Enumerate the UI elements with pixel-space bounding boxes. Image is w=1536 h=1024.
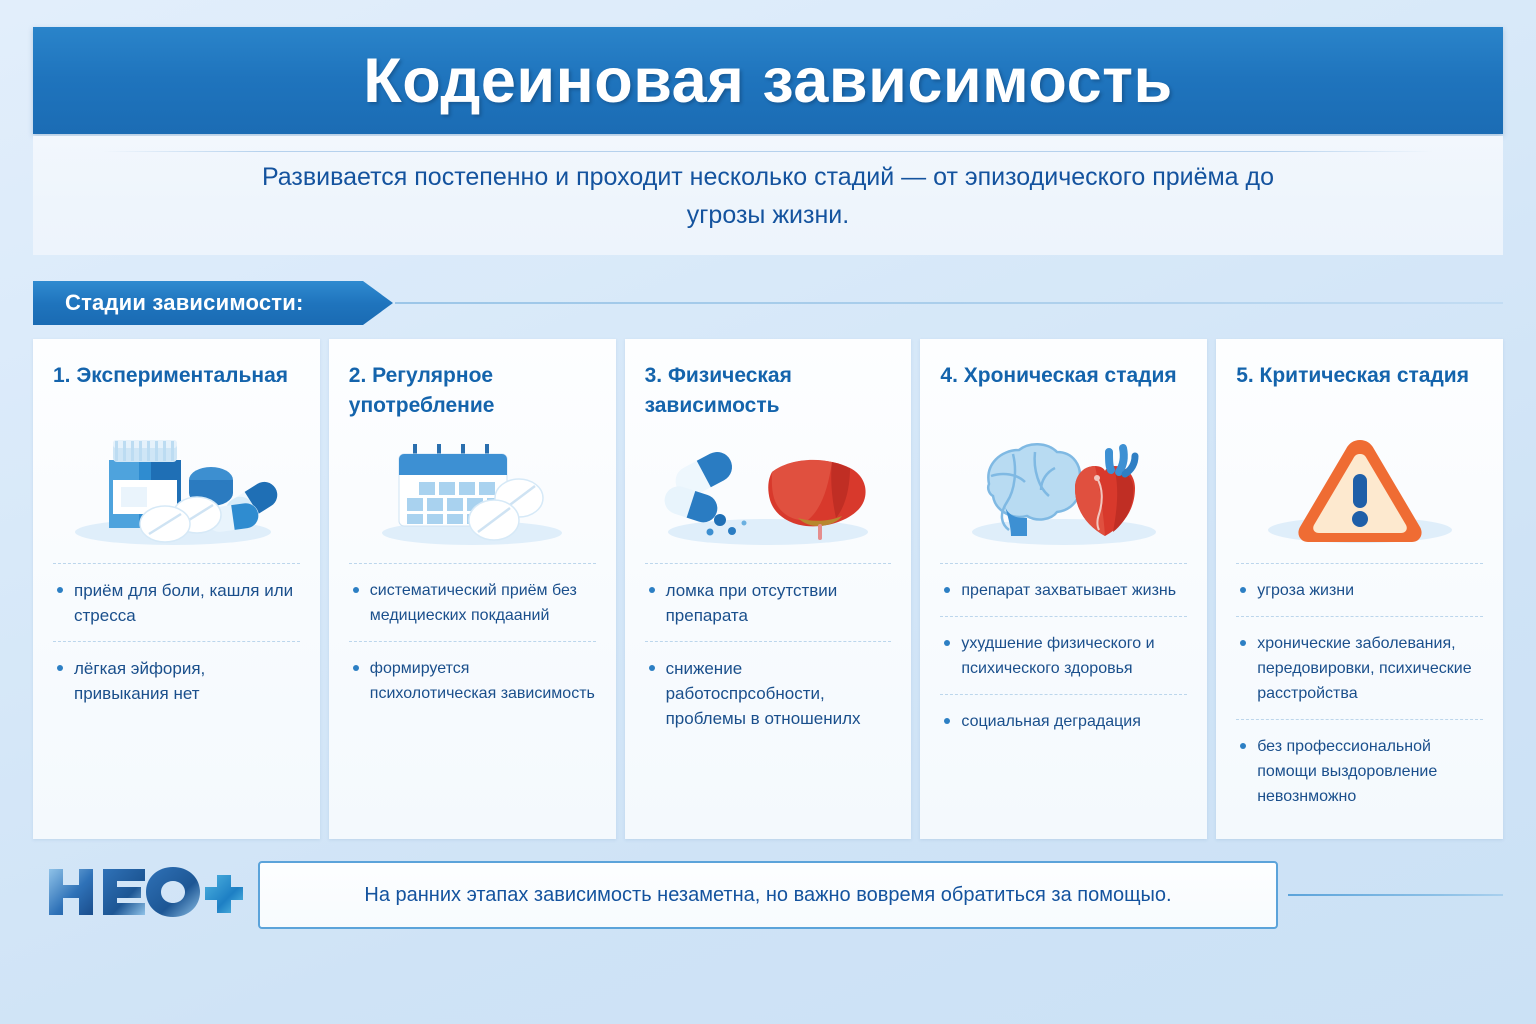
subtitle-divider xyxy=(103,151,1433,152)
bullet-text: приём для боли, кашля или стресса xyxy=(74,578,300,628)
neo-plus-logo xyxy=(43,863,243,921)
bullet-dot-icon xyxy=(649,665,655,671)
bullet-dot-icon xyxy=(1240,640,1246,646)
list-item: систематический приём без медициеских по… xyxy=(349,563,596,641)
bullet-dot-icon xyxy=(353,587,359,593)
bullet-dot-icon xyxy=(944,640,950,646)
list-item: снижение работоспрсобности, проблемы в о… xyxy=(645,641,892,744)
calendar-pills-icon xyxy=(349,429,596,547)
stage-card-1[interactable]: 1. Экспериментальная xyxy=(33,339,320,839)
bullet-text: ломка при отсутствии препарата xyxy=(666,578,892,628)
stage-bullet-list: систематический приём без медициеских по… xyxy=(349,563,596,719)
footer-note-text: На ранних этапах зависимость незаметна, … xyxy=(344,884,1191,907)
stage-card-title: 2. Регулярное употребление xyxy=(349,361,596,423)
bullet-text: систематический приём без медициеских по… xyxy=(370,578,596,628)
bullet-text: угроза жизни xyxy=(1257,578,1354,603)
bullet-text: лёгкая эйфория, привыкания нет xyxy=(74,656,300,706)
list-item: формируется психолотическая зависимость xyxy=(349,641,596,719)
stage-bullet-list: ломка при отсутствии препарата снижение … xyxy=(645,563,892,744)
list-item: препарат захватывает жизнь xyxy=(940,563,1187,616)
stage-card-3[interactable]: 3. Физическая зависимость xyxy=(625,339,912,839)
bullet-text: без профессиональной помощи выздоровлени… xyxy=(1257,734,1483,809)
warning-triangle-icon xyxy=(1236,429,1483,547)
brain-heart-icon xyxy=(940,429,1187,547)
stage-bullet-list: угроза жизни хронические заболевания, пе… xyxy=(1236,563,1483,822)
bullet-dot-icon xyxy=(353,665,359,671)
footer: На ранних этапах зависимость незаметна, … xyxy=(33,855,1503,950)
stage-card-title: 4. Хроническая стадия xyxy=(940,361,1187,423)
bullet-text: препарат захватывает жизнь xyxy=(961,578,1176,603)
footer-rule xyxy=(1288,894,1503,896)
stage-card-4[interactable]: 4. Хроническая стадия xyxy=(920,339,1207,839)
page-subtitle: Развивается постепенно и проходит нескол… xyxy=(253,158,1283,234)
bullet-text: ухудшение физического и психического здо… xyxy=(961,631,1187,681)
list-item: лёгкая эйфория, привыкания нет xyxy=(53,641,300,719)
footer-note-box: На ранних этапах зависимость незаметна, … xyxy=(258,861,1278,929)
list-item: ломка при отсутствии препарата xyxy=(645,563,892,641)
list-item: хронические заболевания, передовировки, … xyxy=(1236,616,1483,719)
capsule-liver-icon xyxy=(645,429,892,547)
list-item: без профессиональной помощи выздоровлени… xyxy=(1236,719,1483,822)
stage-card-5[interactable]: 5. Критическая стадия угроза жизни хр xyxy=(1216,339,1503,839)
bullet-text: хронические заболевания, передовировки, … xyxy=(1257,631,1483,706)
bullet-dot-icon xyxy=(1240,587,1246,593)
page-title: Кодеиновая зависимость xyxy=(363,45,1172,117)
bullet-dot-icon xyxy=(57,587,63,593)
stage-card-title: 5. Критическая стадия xyxy=(1236,361,1483,423)
stages-banner-row: Стадии зависимости: xyxy=(33,281,1503,325)
stage-bullet-list: препарат захватывает жизнь ухудшение физ… xyxy=(940,563,1187,747)
bullet-dot-icon xyxy=(944,587,950,593)
pill-bottle-icon xyxy=(53,429,300,547)
list-item: приём для боли, кашля или стресса xyxy=(53,563,300,641)
stages-banner-rule xyxy=(395,302,1503,304)
infographic-poster: Кодеиновая зависимость Развивается посте… xyxy=(0,0,1536,1024)
bullet-dot-icon xyxy=(1240,743,1246,749)
bullet-dot-icon xyxy=(944,718,950,724)
stage-card-2[interactable]: 2. Регулярное употребление xyxy=(329,339,616,839)
bullet-text: социальная деградация xyxy=(961,709,1140,734)
stage-card-title: 1. Экспериментальная xyxy=(53,361,300,423)
bullet-dot-icon xyxy=(57,665,63,671)
list-item: угроза жизни xyxy=(1236,563,1483,616)
stages-banner: Стадии зависимости: xyxy=(33,281,393,325)
bullet-text: снижение работоспрсобности, проблемы в о… xyxy=(666,656,892,731)
stage-card-title: 3. Физическая зависимость xyxy=(645,361,892,423)
subtitle-band: Развивается постепенно и проходит нескол… xyxy=(33,136,1503,255)
list-item: социальная деградация xyxy=(940,694,1187,747)
list-item: ухудшение физического и психического здо… xyxy=(940,616,1187,694)
title-bar: Кодеиновая зависимость xyxy=(33,27,1503,134)
bullet-dot-icon xyxy=(649,587,655,593)
stages-banner-label: Стадии зависимости: xyxy=(33,290,304,316)
stage-bullet-list: приём для боли, кашля или стресса лёгкая… xyxy=(53,563,300,719)
bullet-text: формируется психолотическая зависимость xyxy=(370,656,596,706)
stage-card-list: 1. Экспериментальная xyxy=(33,339,1503,839)
